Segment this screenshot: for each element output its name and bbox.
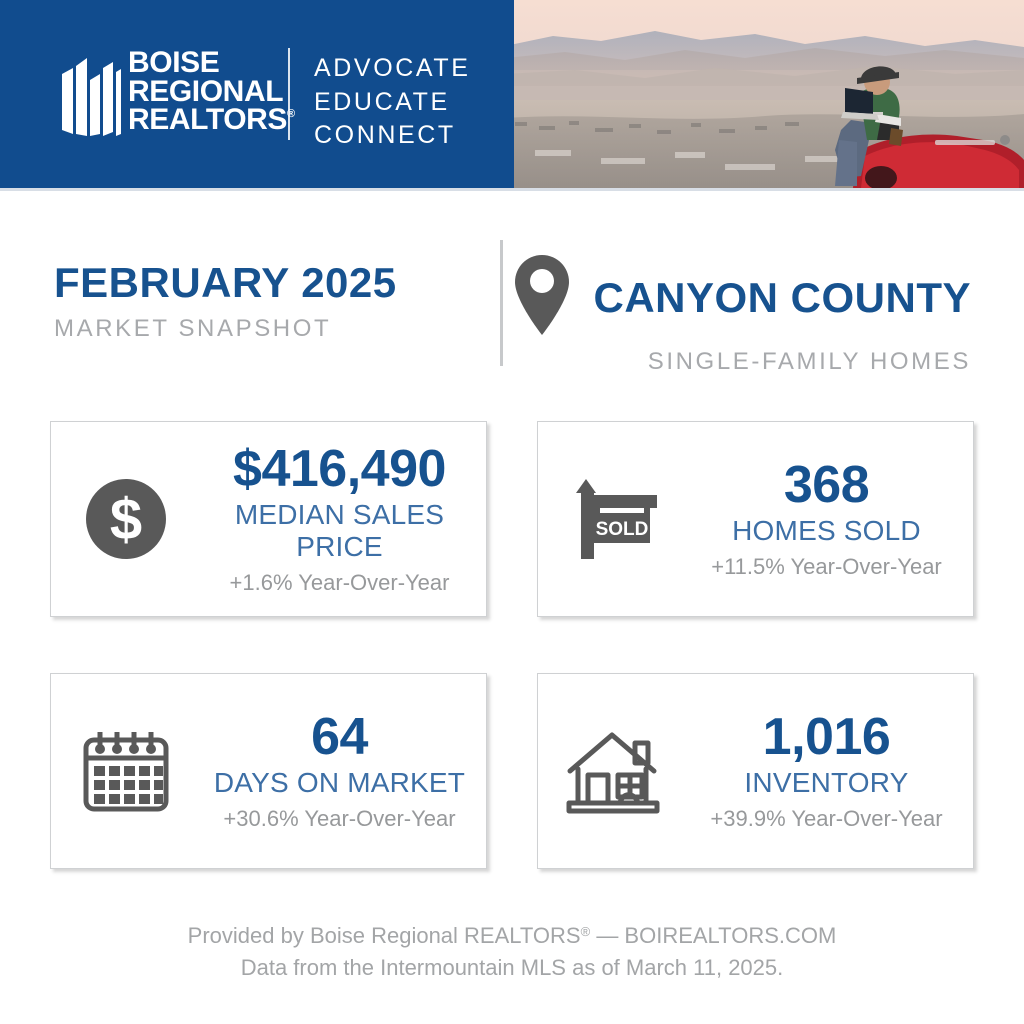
stat-label: MEDIAN SALES PRICE xyxy=(201,499,478,563)
region-name: CANYON COUNTY xyxy=(593,277,971,319)
stat-icon-wrap xyxy=(51,728,201,814)
stat-text: 64 DAYS ON MARKET +30.6% Year-Over-Year xyxy=(201,711,486,832)
stat-delta: +30.6% Year-Over-Year xyxy=(201,806,478,832)
header: BOISE REGIONAL REALTORS® ADVOCATE EDUCAT… xyxy=(0,0,1024,188)
footer-line-1: Provided by Boise Regional REALTORS® — B… xyxy=(0,920,1024,952)
stat-card-median-sales-price: $ $416,490 MEDIAN SALES PRICE +1.6% Year… xyxy=(50,421,487,617)
footer-website: — BOIREALTORS.COM xyxy=(590,923,836,948)
map-pin-icon xyxy=(513,253,571,337)
stat-text: $416,490 MEDIAN SALES PRICE +1.6% Year-O… xyxy=(201,443,486,596)
stat-delta: +1.6% Year-Over-Year xyxy=(201,570,478,596)
stat-icon-wrap xyxy=(538,727,688,815)
stat-text: 1,016 INVENTORY +39.9% Year-Over-Year xyxy=(688,711,973,832)
stat-value: 1,016 xyxy=(688,711,965,763)
boise-buildings-logo-icon xyxy=(60,46,122,138)
stat-label: DAYS ON MARKET xyxy=(201,767,478,799)
svg-text:$: $ xyxy=(110,487,142,552)
market-snapshot-infographic: BOISE REGIONAL REALTORS® ADVOCATE EDUCAT… xyxy=(0,0,1024,1024)
brand-logo: BOISE REGIONAL REALTORS® xyxy=(60,46,295,138)
report-period-title: FEBRUARY 2025 MARKET SNAPSHOT xyxy=(54,262,397,343)
tagline-line-2: EDUCATE xyxy=(314,86,470,120)
logo-line-3: REALTORS xyxy=(128,103,287,136)
stat-value: $416,490 xyxy=(201,443,478,495)
footer-provider: Provided by Boise Regional REALTORS xyxy=(188,923,581,948)
logo-wordmark: BOISE REGIONAL REALTORS® xyxy=(128,49,295,135)
stat-value: 64 xyxy=(201,711,478,763)
stat-card-homes-sold: SOLD 368 HOMES SOLD +11.5% Year-Over-Yea… xyxy=(537,421,974,617)
stat-label: INVENTORY xyxy=(688,767,965,799)
footer-registered-mark: ® xyxy=(581,924,591,939)
stat-value: 368 xyxy=(688,459,965,511)
stat-delta: +39.9% Year-Over-Year xyxy=(688,806,965,832)
logo-line-1: BOISE xyxy=(128,49,295,78)
title-divider xyxy=(500,240,503,366)
stat-card-days-on-market: 64 DAYS ON MARKET +30.6% Year-Over-Year xyxy=(50,673,487,869)
sold-sign-icon: SOLD xyxy=(565,477,661,561)
header-hero-photo xyxy=(505,0,1024,188)
footer: Provided by Boise Regional REALTORS® — B… xyxy=(0,920,1024,984)
svg-text:SOLD: SOLD xyxy=(596,519,649,540)
stat-delta: +11.5% Year-Over-Year xyxy=(688,554,965,580)
stat-icon-wrap: SOLD xyxy=(538,477,688,561)
brand-tagline: ADVOCATE EDUCATE CONNECT xyxy=(314,52,470,153)
stat-card-grid: $ $416,490 MEDIAN SALES PRICE +1.6% Year… xyxy=(50,421,974,869)
page-title: FEBRUARY 2025 xyxy=(54,262,397,304)
dollar-circle-icon: $ xyxy=(84,477,168,561)
logo-tagline-divider xyxy=(288,48,290,140)
logo-line-2: REGIONAL xyxy=(128,78,295,107)
stat-icon-wrap: $ xyxy=(51,477,201,561)
footer-line-2: Data from the Intermountain MLS as of Ma… xyxy=(0,952,1024,984)
stat-text: 368 HOMES SOLD +11.5% Year-Over-Year xyxy=(688,459,973,580)
stat-card-inventory: 1,016 INVENTORY +39.9% Year-Over-Year xyxy=(537,673,974,869)
tagline-line-3: CONNECT xyxy=(314,119,470,153)
house-icon xyxy=(564,727,662,815)
header-bottom-rule xyxy=(0,188,1024,191)
property-type-label: SINGLE-FAMILY HOMES xyxy=(513,348,971,376)
region-title: CANYON COUNTY SINGLE-FAMILY HOMES xyxy=(513,259,971,376)
calendar-icon xyxy=(80,728,172,814)
page-subtitle: MARKET SNAPSHOT xyxy=(54,315,397,343)
header-panel-edge xyxy=(505,0,514,188)
tagline-line-1: ADVOCATE xyxy=(314,52,470,86)
stat-label: HOMES SOLD xyxy=(688,515,965,547)
